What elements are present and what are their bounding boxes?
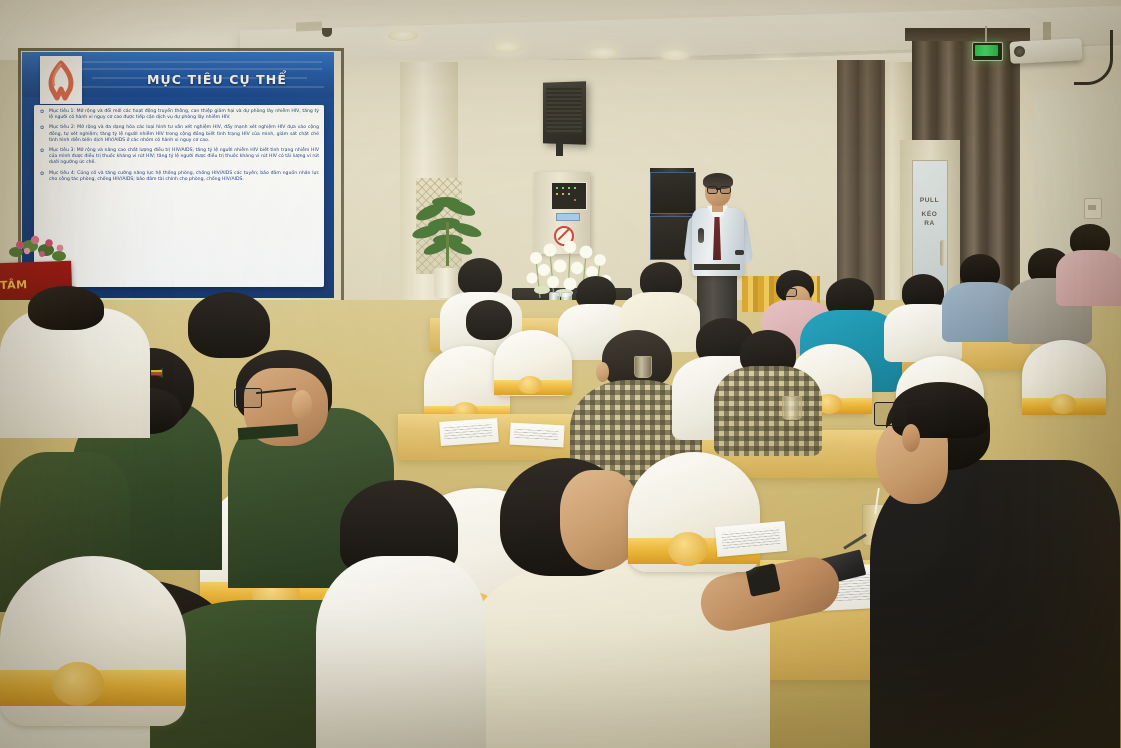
- exit-running-man-icon: [975, 45, 998, 56]
- control-panel-label: [556, 213, 580, 221]
- slide-bullet: Mục tiêu 4: Củng cố và tăng cường năng l…: [39, 171, 319, 183]
- light-switch-toggle[interactable]: [1088, 205, 1096, 210]
- door-sign-pull-en: PULL: [916, 196, 943, 205]
- ceiling-vent: [296, 22, 322, 32]
- red-aids-ribbon-icon: [40, 56, 82, 104]
- tea-glass[interactable]: [634, 356, 652, 378]
- speaker-grille: [546, 86, 582, 134]
- aids-ribbon-panel: [40, 56, 82, 104]
- door-sign-pull-vi: KÉO RA: [916, 210, 943, 219]
- glasses-bridge: [716, 188, 720, 190]
- presenter-belt: [694, 264, 740, 270]
- floor-speaker-upper: [650, 172, 696, 214]
- handout-text: [514, 427, 559, 441]
- slide-bullet: Mục tiêu 1: Mở rộng và đổi mới các hoạt …: [39, 109, 319, 121]
- ceiling-downlight: [588, 48, 618, 59]
- handheld-microphone: [698, 228, 704, 243]
- security-camera-icon: [322, 28, 332, 37]
- door-handle[interactable]: [940, 240, 945, 266]
- ceiling-downlight: [492, 42, 522, 53]
- slide-title: MỤC TIÊU CỤ THỂ: [108, 72, 326, 87]
- tea-glass[interactable]: [782, 396, 802, 420]
- speaker-bracket: [556, 143, 563, 156]
- conference-room-photograph: PULL KÉO RA MỤC TIÊU CỤ THỂ Mục tiêu 1: …: [0, 0, 1121, 748]
- presenter-glasses-right: [720, 186, 731, 194]
- slide-bullet: Mục tiêu 3: Mở rộng và nâng cao chất lượ…: [39, 148, 319, 167]
- presenter-wristwatch: [735, 250, 744, 255]
- exit-sign: [972, 42, 1003, 61]
- curtain-rail: [905, 28, 1030, 41]
- ceiling-downlight: [388, 30, 418, 41]
- slide-bullet: Mục tiêu 2: Mở rộng và đa dạng hóa các l…: [39, 125, 319, 144]
- control-panel-display: [551, 182, 587, 210]
- slide-body: Mục tiêu 1: Mở rộng và đổi mới các hoạt …: [34, 105, 324, 287]
